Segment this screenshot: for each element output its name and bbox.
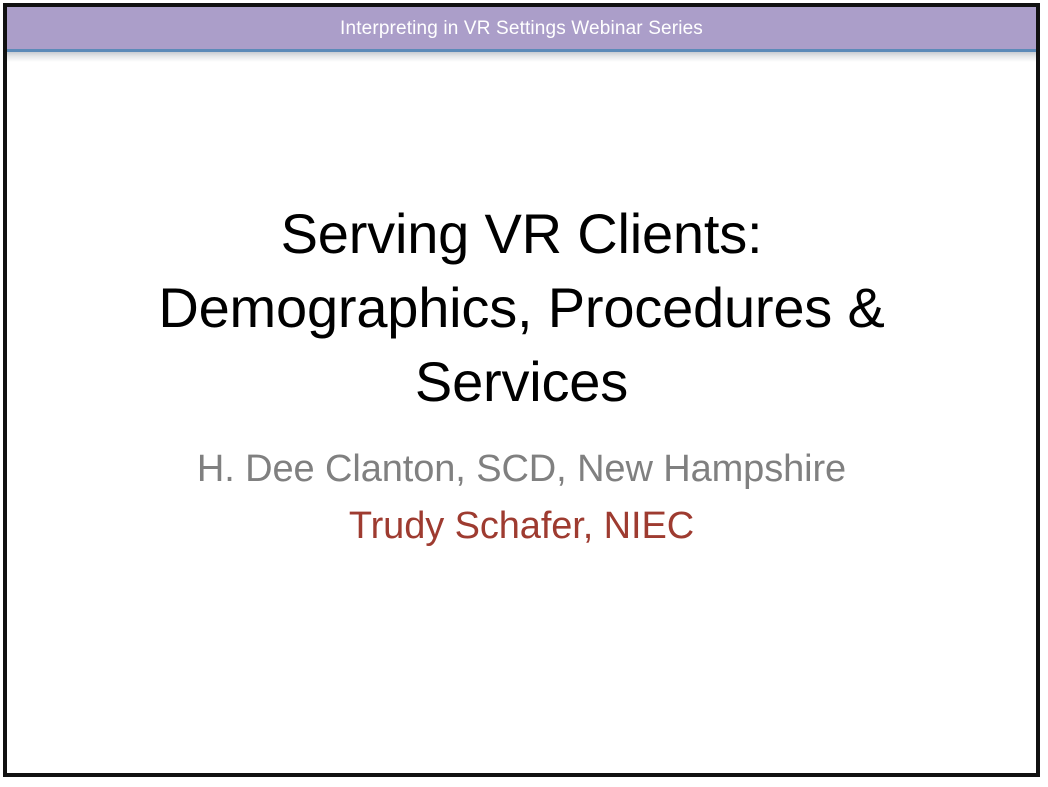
slide-subtitle-group: H. Dee Clanton, SCD, New Hampshire Trudy… xyxy=(47,441,996,557)
slide-title-line-3: Services xyxy=(47,345,996,419)
slide-title-line-1: Serving VR Clients: xyxy=(47,197,996,271)
slide-content-block: Serving VR Clients: Demographics, Proced… xyxy=(7,197,1036,556)
webinar-series-title: Interpreting in VR Settings Webinar Seri… xyxy=(340,19,703,38)
slide-title: Serving VR Clients: Demographics, Proced… xyxy=(47,197,996,419)
presenter-name-secondary: Trudy Schafer, NIEC xyxy=(47,498,996,556)
header-shadow-gradient xyxy=(7,52,1036,62)
presentation-slide: Interpreting in VR Settings Webinar Seri… xyxy=(3,3,1040,777)
slide-header-banner: Interpreting in VR Settings Webinar Seri… xyxy=(7,7,1036,49)
presenter-name-primary: H. Dee Clanton, SCD, New Hampshire xyxy=(47,441,996,499)
slide-title-line-2: Demographics, Procedures & xyxy=(47,271,996,345)
slide-canvas: Interpreting in VR Settings Webinar Seri… xyxy=(0,0,1048,787)
